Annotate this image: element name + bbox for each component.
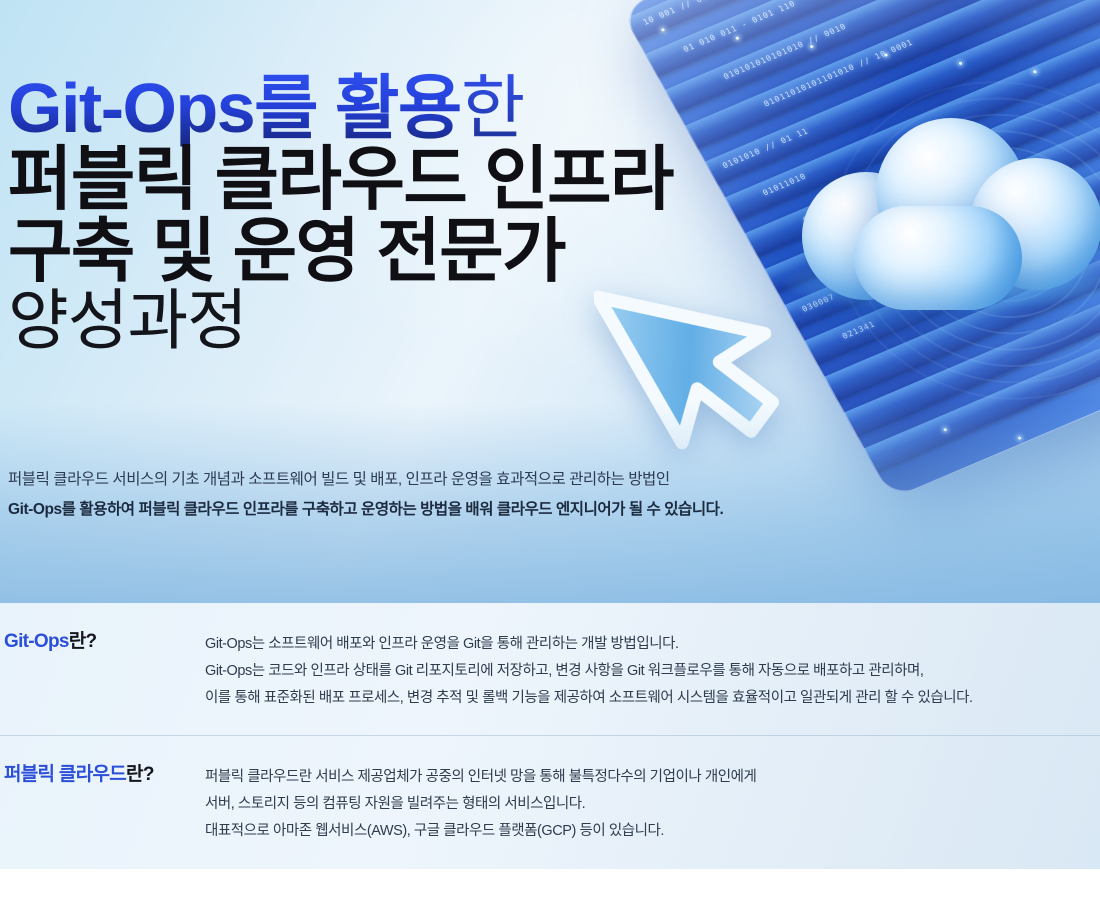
binary-text: 0101010 // 01 11 [721,126,810,170]
info-body-line: Git-Ops는 소프트웨어 배포와 인프라 운영을 Git을 통해 관리하는 … [205,631,1096,658]
cloud-3d-icon [802,110,1100,320]
info-section: Git-Ops란?Git-Ops는 소프트웨어 배포와 인프라 운영을 Git을… [0,603,1100,869]
subtitle-line-1: 퍼블릭 클라우드 서비스의 기초 개념과 소프트웨어 빌드 및 배포, 인프라 … [8,468,723,493]
title-line-2: 퍼블릭 클라우드 인프라 [8,145,673,214]
led-dot [661,28,665,32]
binary-text: 021341 [841,320,877,341]
led-dot [1017,436,1021,440]
info-body-line: 이를 통해 표준화된 배포 프로세스, 변경 추적 및 롤백 기능을 제공하여 … [205,685,1096,712]
led-dot [943,428,947,432]
binary-text: 010101010101010 // 0010 [722,22,848,82]
hero-section: 10 001 // 0011 1001 010 011 - 0101 11001… [0,0,1100,603]
info-label-keyword: Git-Ops [4,631,69,652]
title-suffix-blue: 한 [461,69,524,147]
info-label-keyword: 퍼블릭 클라우드 [4,764,126,785]
binary-text: 01011010101101010 // 10 0001 [762,38,915,109]
info-row-body: Git-Ops는 소프트웨어 배포와 인프라 운영을 Git을 통해 관리하는 … [205,631,1100,711]
title-line-4: 양성과정 [8,288,673,353]
info-label-suffix: 란? [126,764,154,785]
info-body-line: 대표적으로 아마존 웹서비스(AWS), 구글 클라우드 플랫폼(GCP) 등이… [205,818,1096,845]
info-label-suffix: 란? [69,631,97,652]
circuit-ridge [633,0,1100,126]
binary-text: 01011010 [761,172,808,198]
info-row-label: Git-Ops란? [0,631,205,654]
subtitle-line-2: Git-Ops를 활용하여 퍼블릭 클라우드 인프라를 구축하고 운영하는 방법… [8,498,723,523]
led-dot [958,62,962,66]
info-row: 퍼블릭 클라우드란?퍼블릭 클라우드란 서비스 제공업체가 공중의 인터넷 망을… [0,735,1100,868]
info-row-body: 퍼블릭 클라우드란 서비스 제공업체가 공중의 인터넷 망을 통해 불특정다수의… [205,764,1100,844]
led-dot [735,36,739,40]
binary-text: 01 010 011 - 0101 110 [682,0,797,54]
led-dot [884,53,888,57]
info-body-line: Git-Ops는 코드와 인프라 상태를 Git 리포지토리에 저장하고, 변경… [205,658,1096,685]
course-banner-page: 10 001 // 0011 1001 010 011 - 0101 11001… [0,0,1100,908]
info-body-line: 퍼블릭 클라우드란 서비스 제공업체가 공중의 인터넷 망을 통해 불특정다수의… [205,764,1096,791]
circuit-ridge [620,0,1087,90]
led-dot [810,45,814,49]
title-line-1: Git-Ops를 활용한 [8,74,673,143]
info-row-label: 퍼블릭 클라우드란? [0,764,205,787]
hero-subtitle: 퍼블릭 클라우드 서비스의 기초 개념과 소프트웨어 빌드 및 배포, 인프라 … [8,468,723,523]
circuit-ridge [620,0,1067,55]
info-body-line: 서버, 스토리지 등의 컴퓨팅 자원을 빌려주는 형태의 서비스입니다. [205,791,1096,818]
hero-headline: Git-Ops를 활용한 퍼블릭 클라우드 인프라 구축 및 운영 전문가 양성… [8,74,673,353]
binary-text: 10 001 // 0011 10 [641,0,735,27]
title-keyword-blue: Git-Ops를 활용 [8,69,461,147]
led-dot [1033,70,1037,74]
info-row: Git-Ops란?Git-Ops는 소프트웨어 배포와 인프라 운영을 Git을… [0,603,1100,735]
title-line-3: 구축 및 운영 전문가 [8,217,673,286]
